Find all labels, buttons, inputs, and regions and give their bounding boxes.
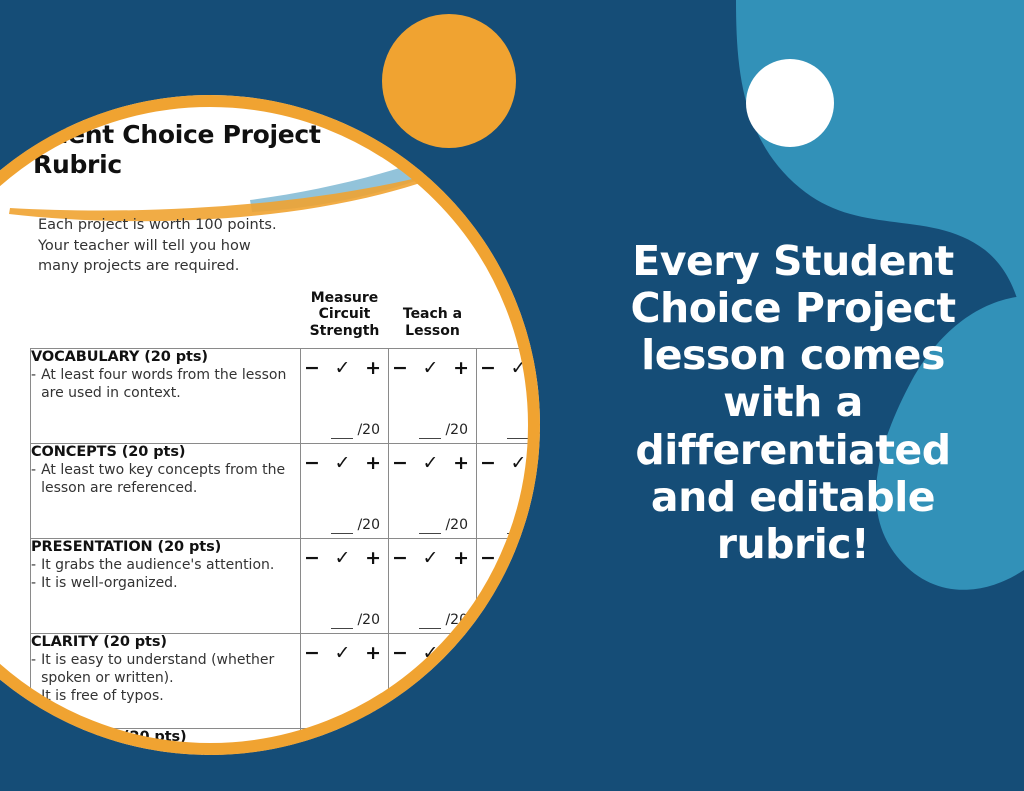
rubric-criterion-bullet: -At least two key concepts from the less… (31, 461, 300, 497)
rubric-criterion-bullet-text: It is well-organized. (41, 574, 300, 592)
score-blank-label: /20 (445, 517, 468, 533)
rubric-criterion-bullet-text: At least four words from the lesson are … (41, 366, 300, 402)
rubric-criterion-bullet: -It is easy to understand (whether spoke… (31, 651, 300, 687)
headline-line-5: and editable (592, 474, 994, 521)
bullet-dash-icon: - (31, 366, 36, 402)
score-blank-line[interactable] (331, 612, 353, 629)
rubric-criterion-bullet: -It is free of typos. (31, 687, 300, 705)
headline-line-6: rubric! (592, 521, 994, 568)
promo-graphic: udent Choice Project Rubric Each project… (0, 0, 1024, 791)
score-blank-label: /20 (357, 612, 380, 628)
score-marks[interactable]: − ✓ + (301, 642, 388, 664)
bullet-dash-icon: - (31, 574, 36, 592)
score-blank[interactable]: /20 (419, 422, 468, 438)
headline-line-2: lesson comes (592, 332, 994, 379)
score-blank-line[interactable] (507, 422, 529, 439)
rubric-criterion-title: VOCABULARY (20 pts) (31, 349, 300, 365)
orange-circle-decor (382, 14, 516, 148)
score-blank-label: /20 (357, 517, 380, 533)
score-blank-label: /20 (445, 422, 468, 438)
score-blank-label: /20 (445, 612, 468, 628)
rubric-criterion-title: CONCEPTS (20 pts) (31, 444, 300, 460)
rubric-score-cell[interactable]: − ✓ + /20 (389, 349, 477, 444)
rubric-score-cell[interactable]: − ✓ + /20 (301, 444, 389, 539)
score-blank-line[interactable] (419, 422, 441, 439)
rubric-criterion-cell: CONCEPTS (20 pts)-At least two key conce… (31, 444, 301, 539)
rubric-header-row: Measure Circuit Strength Teach a Lesson (31, 278, 565, 349)
rubric-criterion-cell: VOCABULARY (20 pts)-At least four words … (31, 349, 301, 444)
rubric-criterion-title: CLARITY (20 pts) (31, 634, 300, 650)
rubric-criterion-bullet-text: It is free of typos. (41, 687, 300, 705)
table-row: CONCEPTS (20 pts)-At least two key conce… (31, 444, 565, 539)
rubric-score-cell[interactable]: − ✓ + /20 (389, 539, 477, 634)
rubric-score-cell[interactable]: − ✓ + /20 (301, 349, 389, 444)
bullet-dash-icon: - (31, 651, 36, 687)
score-blank-line[interactable] (331, 517, 353, 534)
score-marks[interactable]: − ✓ + (301, 547, 388, 569)
score-blank-line[interactable] (331, 422, 353, 439)
rubric-header-col-1: Measure Circuit Strength (301, 278, 389, 349)
headline: Every StudentChoice Projectlesson comesw… (592, 238, 994, 568)
score-marks[interactable]: − ✓ + (301, 452, 388, 474)
rubric-header-col-2: Teach a Lesson (389, 278, 477, 349)
rubric-criterion-bullet: -At least four words from the lesson are… (31, 366, 300, 402)
score-marks[interactable]: − ✓ + (389, 547, 476, 569)
score-blank[interactable]: /20 (331, 517, 380, 533)
headline-line-1: Choice Project (592, 285, 994, 332)
rubric-criterion-bullet-text: At least two key concepts from the lesso… (41, 461, 300, 497)
score-marks[interactable]: − ✓ + (389, 452, 476, 474)
score-marks[interactable]: − ✓ + (389, 357, 476, 379)
rubric-criterion-bullet-text: It is easy to understand (whether spoken… (41, 651, 300, 687)
score-blank-line[interactable] (419, 612, 441, 629)
rubric-table-head: Measure Circuit Strength Teach a Lesson (31, 278, 565, 349)
rubric-criterion-bullet: -It is well-organized. (31, 574, 300, 592)
rubric-header-blank (31, 278, 301, 349)
score-blank[interactable]: /20 (331, 422, 380, 438)
rubric-criterion-bullet: -It grabs the audience's attention. (31, 556, 300, 574)
score-blank-line[interactable] (331, 707, 353, 724)
headline-line-4: differentiated (592, 427, 994, 474)
rubric-criterion-bullet-text: It grabs the audience's attention. (41, 556, 300, 574)
score-blank-label: /20 (357, 422, 380, 438)
score-blank-line[interactable] (419, 517, 441, 534)
score-blank[interactable]: /20 (331, 612, 380, 628)
rubric-criterion-cell: PRESENTATION (20 pts)-It grabs the audie… (31, 539, 301, 634)
score-marks[interactable]: − ✓ + (301, 357, 388, 379)
score-blank[interactable]: /20 (419, 517, 468, 533)
rubric-score-cell[interactable]: − ✓ + /20 (389, 444, 477, 539)
rubric-intro-text: Each project is worth 100 points. Your t… (38, 215, 288, 277)
bullet-dash-icon: - (31, 461, 36, 497)
headline-line-3: with a (592, 379, 994, 426)
score-blank[interactable]: /20 (419, 612, 468, 628)
bullet-dash-icon: - (31, 556, 36, 574)
table-row: VOCABULARY (20 pts)-At least four words … (31, 349, 565, 444)
headline-line-0: Every Student (592, 238, 994, 285)
white-circle-decor (746, 59, 834, 147)
rubric-score-cell[interactable]: − ✓ + /20 (301, 539, 389, 634)
rubric-criterion-cell: CLARITY (20 pts)-It is easy to understan… (31, 634, 301, 729)
rubric-criterion-title: PRESENTATION (20 pts) (31, 539, 300, 555)
